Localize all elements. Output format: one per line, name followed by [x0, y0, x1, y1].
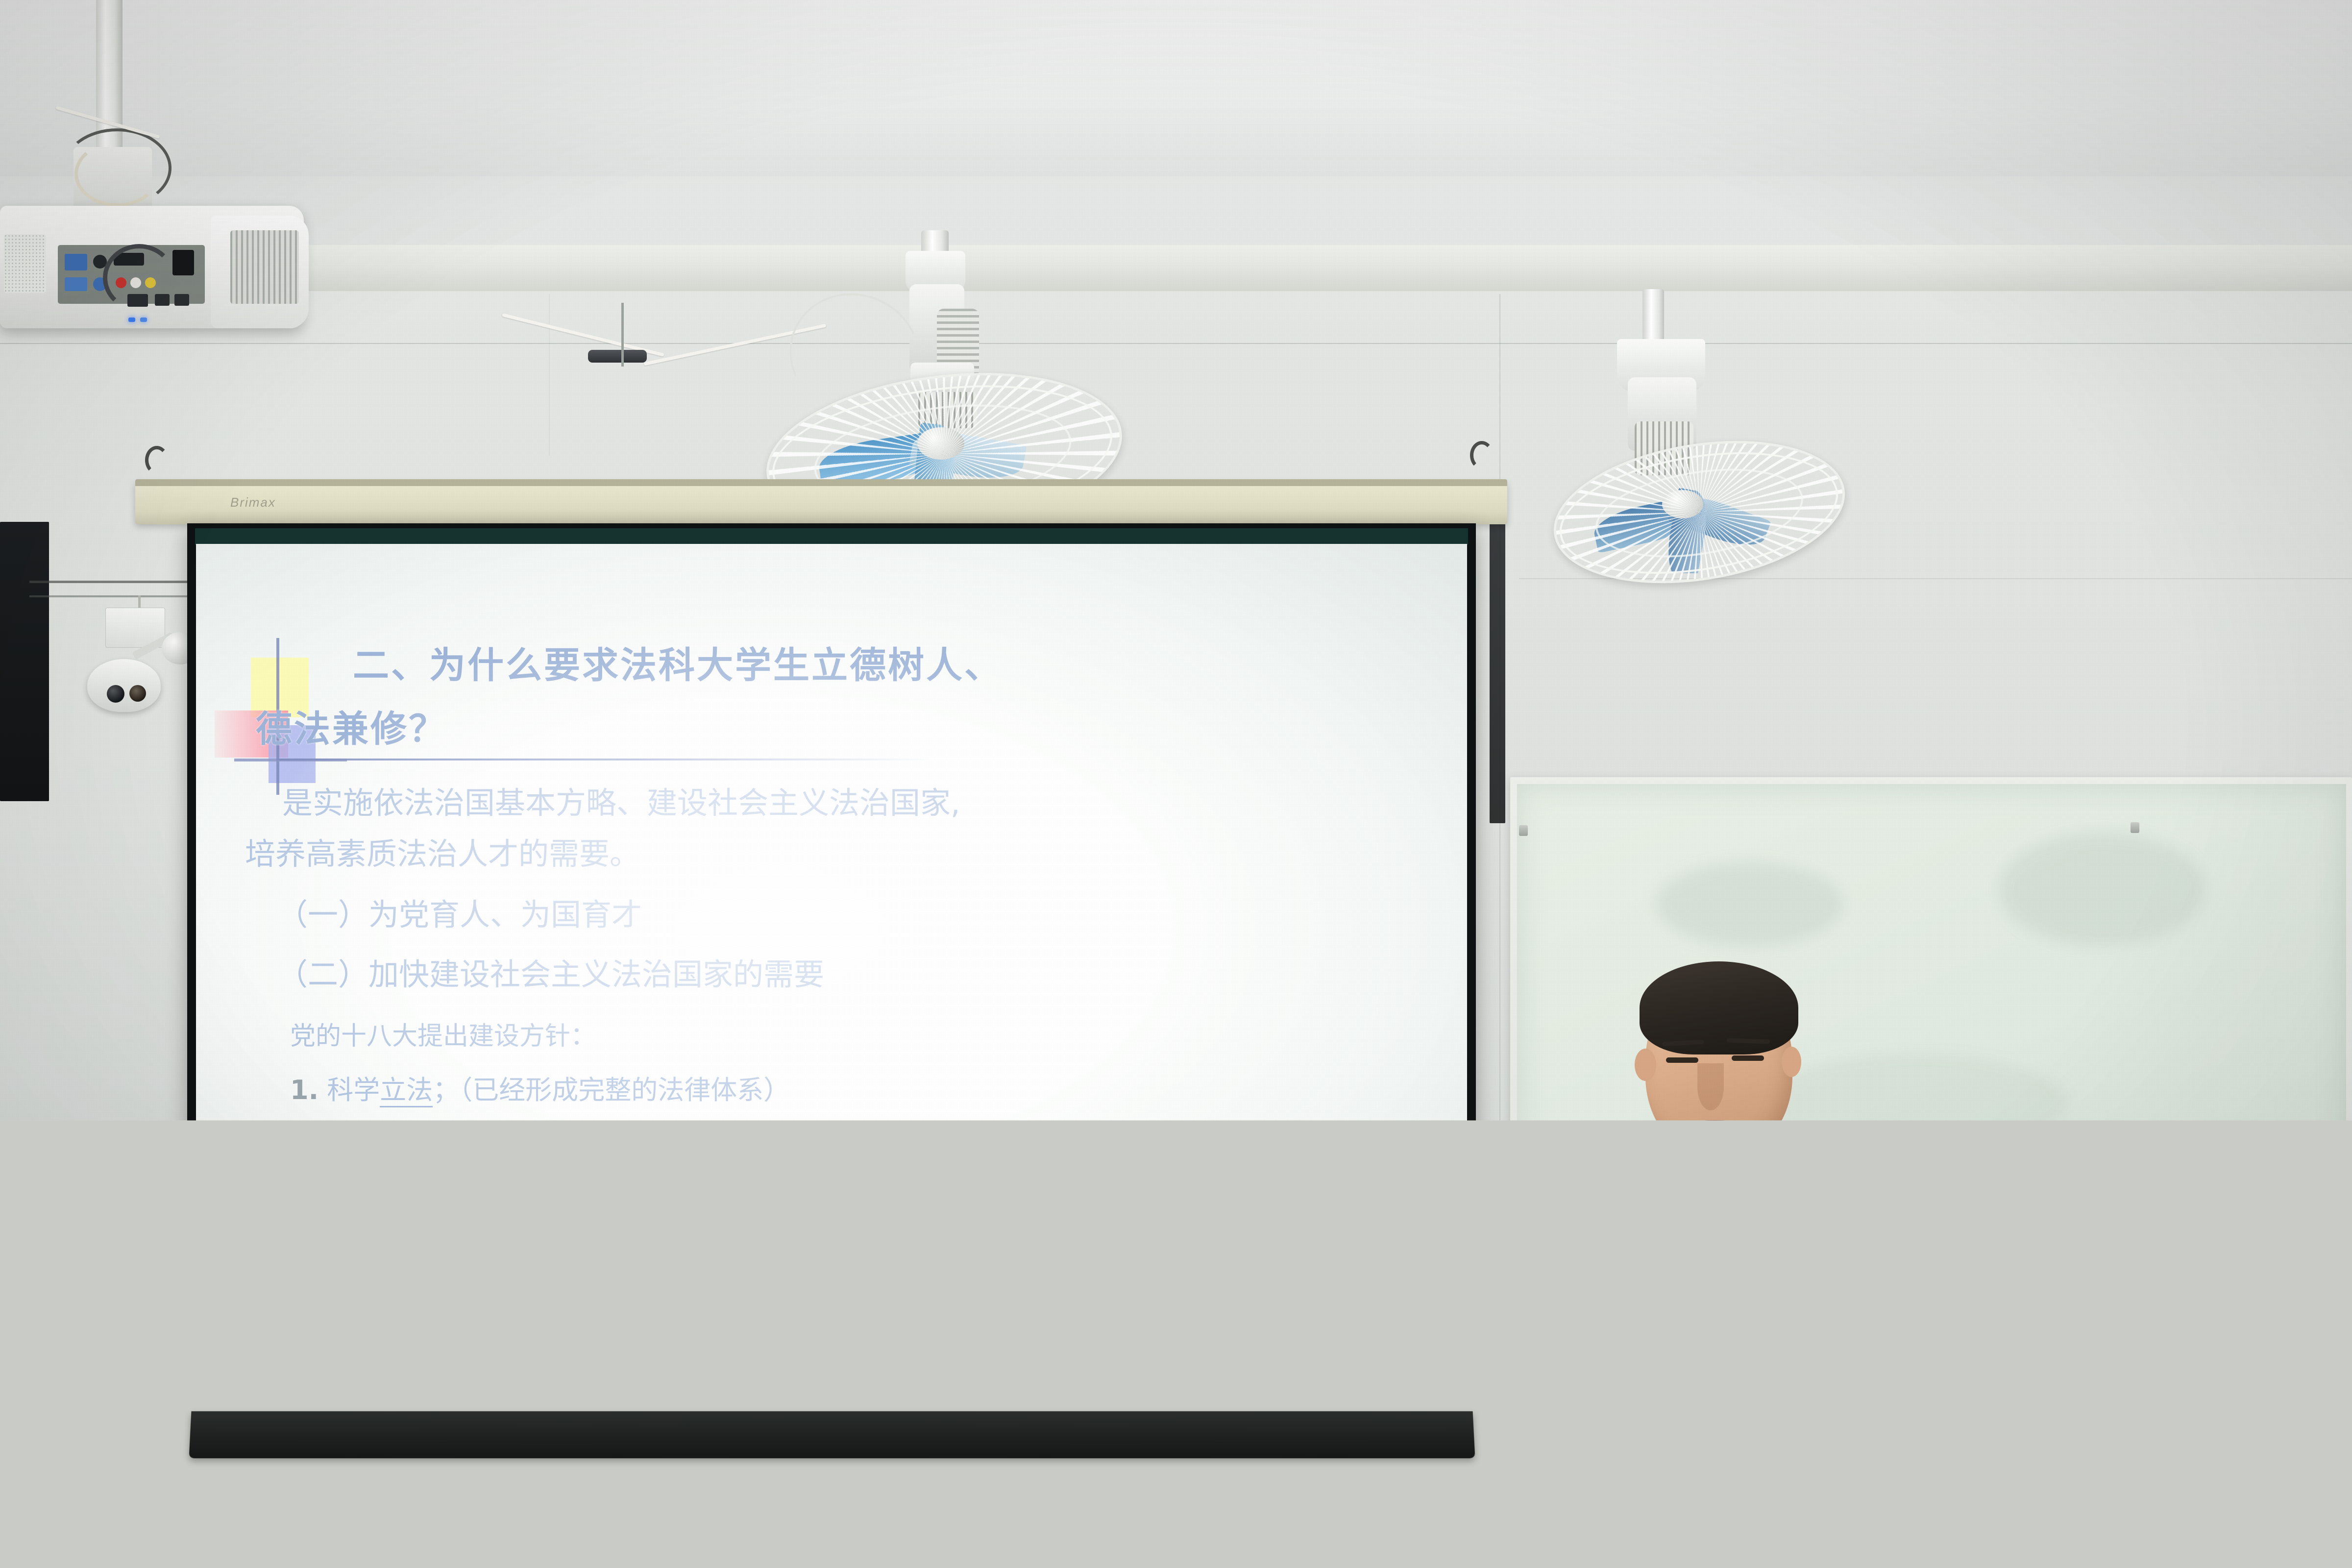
slide-section-1: （一）为党育人、为国育才: [277, 890, 642, 934]
slide-list-item: 2. 严格执法；: [290, 1125, 459, 1164]
label-text-row: [14, 1363, 69, 1365]
label-qr-code: [38, 1329, 59, 1346]
list-item-keyword: 执法: [380, 1131, 433, 1164]
camera-ir-lens: [129, 685, 146, 702]
list-item-post: ；（已经形成完整的法律体系）: [433, 1075, 790, 1105]
label-text-row: [14, 1351, 72, 1353]
projector-vent: [230, 230, 299, 304]
label-swatch: [14, 1329, 34, 1346]
screen-inner-band: [195, 528, 1468, 545]
whiteboard-smudge: [1999, 833, 2205, 946]
wall-speaker-panel: [0, 522, 49, 801]
list-item-pre: 公正: [327, 1188, 380, 1219]
sanitizer-pump-shaft: [1510, 1436, 1527, 1470]
list-item-keyword: 司法: [380, 1188, 433, 1221]
screen-mount-hook: [1470, 441, 1494, 469]
title-underline-rule: [276, 759, 933, 760]
whiteboard-smudge: [1656, 862, 1842, 946]
list-item-pre: 全民: [327, 1245, 380, 1276]
presenter-eye: [1666, 1057, 1698, 1063]
label-header-band: [9, 1304, 79, 1324]
screen-weight-bar: [189, 1411, 1475, 1458]
list-item-post: 。: [433, 1245, 459, 1276]
energy-label-sticker: [9, 1303, 79, 1383]
camera-lens: [107, 685, 124, 703]
screen-mount-hook: [145, 446, 169, 474]
slide-list-item: 3. 公正司法；: [290, 1182, 459, 1221]
whiteboard-smudge: [1764, 1053, 2068, 1151]
label-footer-band: [14, 1372, 74, 1377]
dome-security-camera: [87, 659, 161, 712]
slide-body-line-2: 培养高素质法治人才的需要。: [245, 829, 640, 873]
slide-list-item: 4. 全民守法。: [290, 1239, 459, 1277]
list-item-pre: 科学: [327, 1075, 380, 1105]
projector-power-cable: [103, 244, 175, 312]
list-item-number: 4.: [290, 1245, 318, 1276]
usb-port-icon: [174, 294, 189, 306]
slide-title-line-1: 二、为什么要求法科大学生立德树人、: [353, 636, 1003, 688]
list-item-post: ；: [433, 1131, 459, 1162]
vga-port-icon: [65, 254, 87, 270]
list-item-number: 3.: [290, 1188, 318, 1219]
cable-drop: [621, 303, 624, 367]
presenter-eye: [1732, 1055, 1764, 1061]
monitor-back-mesh: [1592, 1376, 1935, 1419]
floor-baseboard: [0, 1509, 2352, 1568]
presenter-nose: [1697, 1063, 1724, 1110]
presentation-slide: 二、为什么要求法科大学生立德树人、 德法兼修？ 是实施依法治国基本方略、建设社会…: [196, 544, 1467, 1416]
vga-port-icon: [65, 277, 87, 291]
wall-seam: [549, 294, 550, 456]
slide-list-item: 1. 科学立法；（已经形成完整的法律体系）: [290, 1068, 790, 1107]
power-socket-icon: [172, 250, 194, 275]
cable-run: [29, 581, 206, 583]
cabinet-seam: [0, 1291, 132, 1292]
label-text-row: [14, 1357, 61, 1359]
slide-body-line-1: 是实施依法治国基本方略、建设社会主义法治国家,: [282, 778, 960, 822]
chin-shadow: [1676, 1136, 1759, 1167]
screen-case-top-edge: [135, 479, 1507, 486]
classroom-photo: Brimax 二、为什么要求法科大学生立德树人、 德法兼修？ 是实施依法治国基本…: [0, 0, 2352, 1568]
monitor-brand-logo: lenovo: [1658, 1348, 1727, 1372]
crest-core: [1742, 1262, 1754, 1275]
projection-screen-surface: 二、为什么要求法科大学生立德树人、 德法兼修？ 是实施依法治国基本方略、建设社会…: [196, 544, 1467, 1416]
list-item-post: ；: [433, 1188, 459, 1219]
wall-seam: [0, 343, 2352, 344]
list-item-number: 1.: [290, 1075, 318, 1105]
whiteboard-eraser-felt: [2102, 1407, 2176, 1418]
presenter-ear: [1782, 1047, 1801, 1077]
sanitizer-nozzle: [1498, 1428, 1535, 1441]
projector-status-led: [128, 318, 135, 322]
presenter-ear: [1635, 1049, 1656, 1081]
projection-screen-case: [135, 481, 1507, 524]
list-item-pre: 严格: [327, 1131, 380, 1162]
whiteboard-clip: [1519, 825, 1528, 836]
whiteboard-clip: [2131, 822, 2139, 833]
ceiling: [0, 0, 2352, 176]
slide-lead-in: 党的十八大提出建设方针：: [290, 1015, 596, 1052]
cable-connector: [588, 350, 647, 363]
projector-speaker-grille: [4, 234, 46, 293]
screen-brand-logo: Brimax: [230, 495, 276, 510]
slide-section-2: （二）加快建设社会主义法治国家的需要: [277, 950, 824, 994]
ceiling-beam: [0, 245, 2352, 294]
presenter-mouth-open: [1696, 1124, 1734, 1134]
list-item-number: 2.: [290, 1131, 318, 1162]
projector-status-led: [140, 318, 147, 322]
presenter-hair: [1640, 961, 1798, 1054]
list-item-keyword: 立法: [380, 1075, 433, 1107]
list-item-keyword: 守法: [380, 1245, 433, 1278]
cabinet-seam: [0, 1172, 132, 1174]
wall-edge-panel: [1490, 519, 1505, 823]
cable-run: [29, 595, 206, 597]
slide-title-line-2: 德法兼修？: [256, 700, 447, 752]
projector-cable-white: [74, 141, 160, 207]
